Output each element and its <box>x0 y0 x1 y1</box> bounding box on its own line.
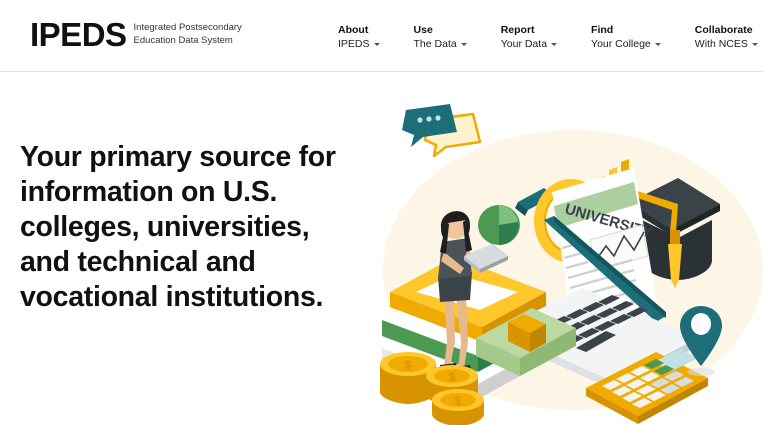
main-navigation: About IPEDS Use The Data Report Your Dat… <box>338 24 758 51</box>
chevron-down-icon <box>655 43 661 46</box>
nav-item-use-the-data-bottom: The Data <box>414 37 467 51</box>
chevron-down-icon <box>374 43 380 46</box>
hero-illustration: UNIVERSITY <box>368 80 763 425</box>
nav-item-collaborate-with-nces[interactable]: Collaborate With NCES <box>695 24 758 51</box>
headline-line-4: and technical and <box>20 245 360 280</box>
headline-line-3: colleges, universities, <box>20 210 360 245</box>
nav-item-report-your-data-top: Report <box>501 24 557 37</box>
nav-item-about-ipeds-top: About <box>338 24 380 37</box>
logo-wordmark: IPEDS <box>30 18 127 52</box>
nav-item-report-your-data-bottom: Your Data <box>501 37 557 51</box>
nav-item-find-your-college-top: Find <box>591 24 661 37</box>
headline-line-5: vocational institutions. <box>20 280 360 315</box>
site-logo[interactable]: IPEDS Integrated Postsecondary Education… <box>30 18 242 52</box>
nav-item-collaborate-with-nces-top: Collaborate <box>695 24 758 37</box>
nav-item-find-your-college-label: Your College <box>591 37 651 51</box>
hero-section: Your primary source for information on U… <box>0 72 763 425</box>
pie-chart-icon <box>478 205 520 245</box>
logo-tagline-line1: Integrated Postsecondary <box>134 22 242 35</box>
nav-item-find-your-college-bottom: Your College <box>591 37 661 51</box>
nav-item-about-ipeds-label: IPEDS <box>338 37 370 51</box>
nav-item-collaborate-with-nces-label: With NCES <box>695 37 748 51</box>
nav-item-find-your-college[interactable]: Find Your College <box>591 24 661 51</box>
nav-item-report-your-data-label: Your Data <box>501 37 547 51</box>
coin-symbol: $ <box>449 370 456 384</box>
chevron-down-icon <box>551 43 557 46</box>
site-header: IPEDS Integrated Postsecondary Education… <box>0 0 763 72</box>
nav-item-use-the-data-label: The Data <box>414 37 457 51</box>
nav-item-report-your-data[interactable]: Report Your Data <box>501 24 557 51</box>
logo-tagline-line2: Education Data System <box>134 35 242 48</box>
coin-symbol: $ <box>455 394 462 408</box>
nav-item-use-the-data[interactable]: Use The Data <box>414 24 467 51</box>
coin-stack-front: $ <box>432 389 484 425</box>
nav-item-about-ipeds[interactable]: About IPEDS <box>338 24 380 51</box>
nav-item-use-the-data-top: Use <box>414 24 467 37</box>
headline-line-2: information on U.S. <box>20 175 360 210</box>
chevron-down-icon <box>752 43 758 46</box>
coin-symbol: $ <box>405 358 412 372</box>
nav-item-collaborate-with-nces-bottom: With NCES <box>695 37 758 51</box>
chevron-down-icon <box>461 43 467 46</box>
nav-item-about-ipeds-bottom: IPEDS <box>338 37 380 51</box>
logo-tagline: Integrated Postsecondary Education Data … <box>134 18 242 47</box>
headline-line-1: Your primary source for <box>20 140 360 175</box>
speech-bubbles-icon <box>402 104 480 156</box>
page-title: Your primary source for information on U… <box>20 140 360 315</box>
